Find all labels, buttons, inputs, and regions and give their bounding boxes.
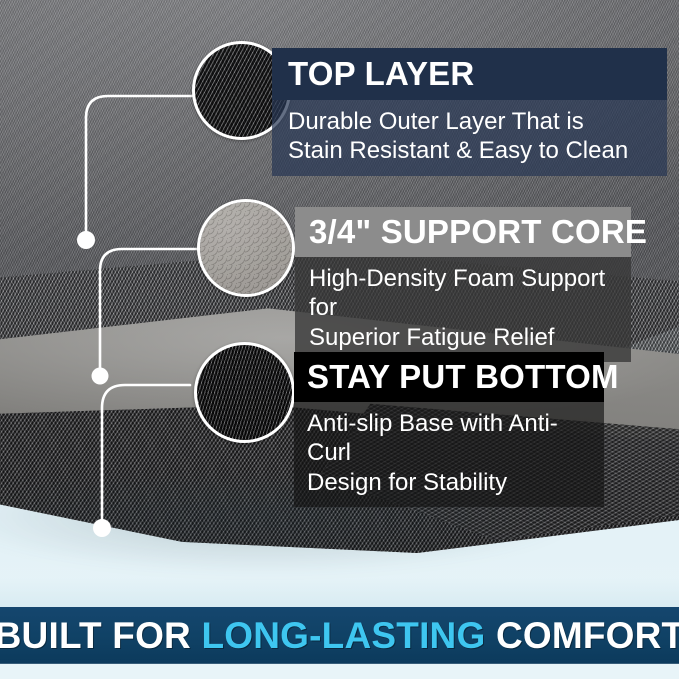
foam-core-texture-fill	[200, 202, 292, 294]
callout-top-layer-title: TOP LAYER	[272, 48, 667, 100]
leader-dot-top-layer	[77, 231, 95, 249]
banner-text-part3: COMFORT	[496, 615, 679, 656]
anti-slip-base-texture-circle	[194, 342, 295, 443]
banner-space-1	[191, 615, 201, 656]
callout-top-layer-body: Durable Outer Layer That is Stain Resist…	[272, 100, 667, 176]
banner-top-fade	[0, 578, 679, 608]
banner-text: BUILT FOR LONG-LASTING COMFORT	[0, 615, 679, 657]
callout-top-layer: TOP LAYER Durable Outer Layer That is St…	[272, 48, 667, 176]
leader-line-stay-put-bottom	[102, 385, 190, 527]
callout-support-core-body: High-Density Foam Support for Superior F…	[295, 257, 631, 362]
leader-dot-support-core	[92, 368, 109, 385]
callout-stay-put-bottom: STAY PUT BOTTOM Anti-slip Base with Anti…	[294, 352, 604, 507]
callout-stay-put-bottom-body: Anti-slip Base with Anti-Curl Design for…	[294, 402, 604, 507]
bottom-banner: BUILT FOR LONG-LASTING COMFORT	[0, 607, 679, 664]
banner-text-part2: LONG-LASTING	[201, 615, 485, 656]
leader-line-support-core	[100, 249, 197, 375]
infographic-canvas: TOP LAYER Durable Outer Layer That is St…	[0, 0, 679, 679]
leader-line-top-layer	[86, 96, 193, 239]
banner-text-part1: BUILT FOR	[0, 615, 191, 656]
leader-dot-stay-put-bottom	[93, 519, 111, 537]
banner-space-2	[485, 615, 495, 656]
callout-support-core-title: 3/4" SUPPORT CORE	[295, 207, 631, 257]
foam-core-texture-circle	[197, 199, 295, 297]
callout-support-core: 3/4" SUPPORT CORE High-Density Foam Supp…	[295, 207, 631, 362]
callout-stay-put-bottom-title: STAY PUT BOTTOM	[294, 352, 604, 402]
anti-slip-base-texture-fill	[197, 345, 292, 440]
